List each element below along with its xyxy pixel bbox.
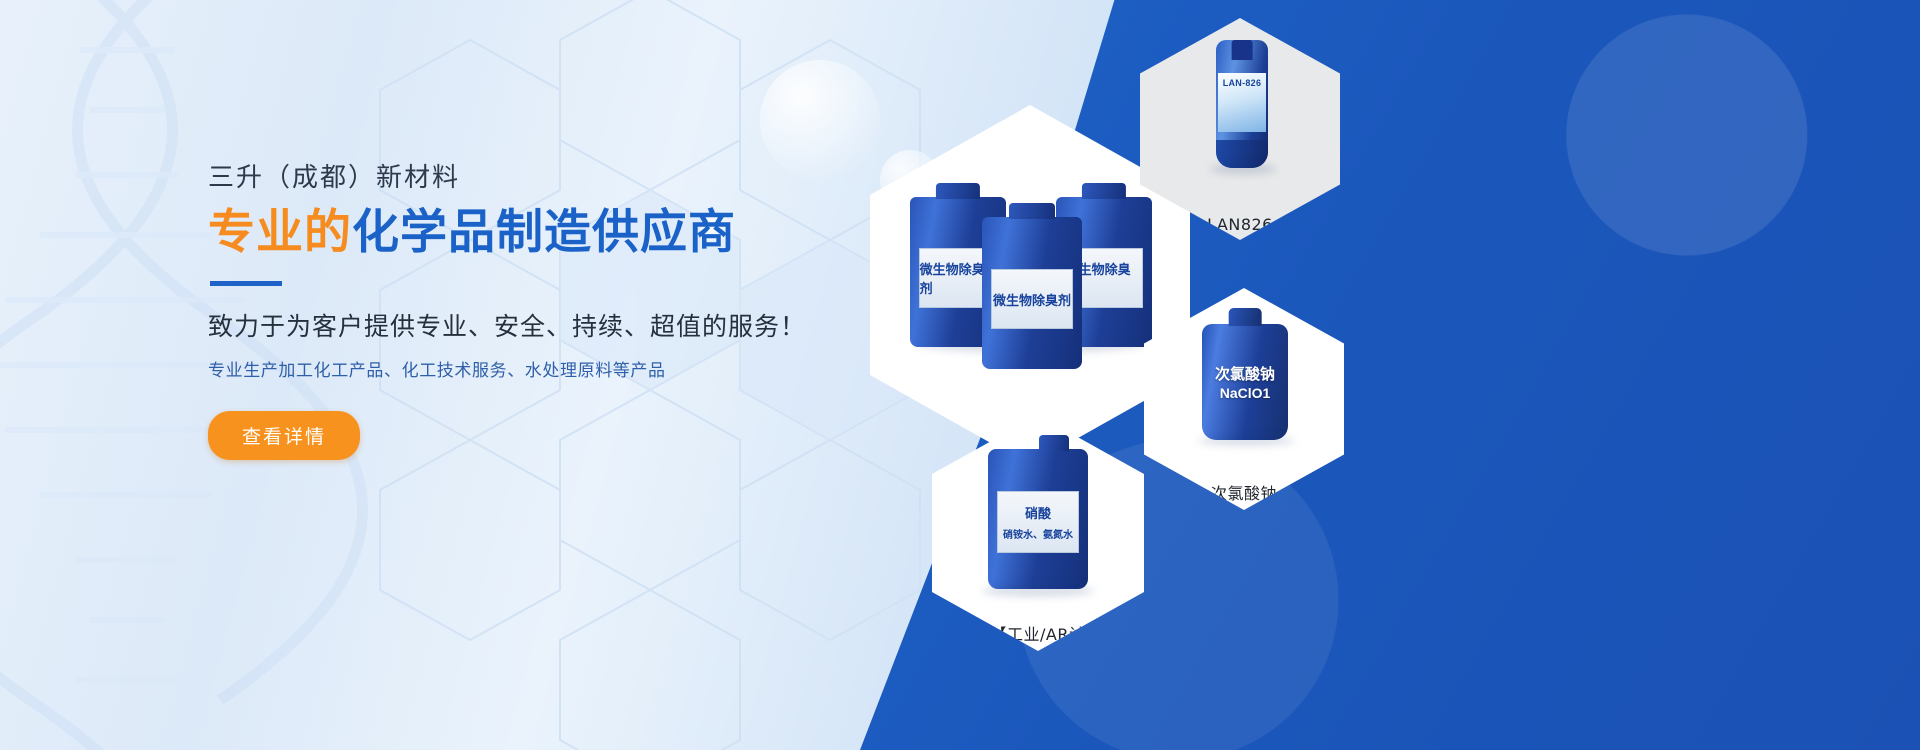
nitric-label-line1: 硝酸 — [1025, 503, 1051, 522]
jerry-can: 次氯酸钠 NaClO1 — [1202, 324, 1288, 440]
subline: 专业生产加工化工产品、化工技术服务、水处理原料等产品 — [208, 356, 908, 381]
tagline: 致力于为客户提供专业、安全、持续、超值的服务！ — [208, 308, 908, 346]
hero-copy: 三升（成都）新材料 专业的化学品制造供应商 致力于为客户提供专业、安全、持续、超… — [208, 160, 908, 460]
headline-main-text: 化学品制造供应商 — [352, 205, 736, 260]
bottle: LAN-826 — [1216, 40, 1268, 168]
view-details-button[interactable]: 查看详情 — [208, 411, 360, 460]
hero-banner: 三升（成都）新材料 专业的化学品制造供应商 致力于为客户提供专业、安全、持续、超… — [0, 0, 1920, 750]
nitric-label-line2: 硝铵水、氨氮水 — [1003, 526, 1073, 541]
divider — [210, 281, 282, 286]
deodorant-label-text: 微生物除臭剂 — [993, 290, 1071, 309]
page-title: 专业的化学品制造供应商 — [208, 204, 908, 263]
naclo-label-line1: 次氯酸钠 — [1202, 366, 1288, 385]
jerry-can: 硝酸 硝铵水、氨氮水 — [988, 449, 1088, 589]
naclo-label-line2: NaClO1 — [1202, 385, 1288, 403]
company-name: 三升（成都）新材料 — [208, 160, 908, 196]
lan826-label-text: LAN-826 — [1218, 73, 1266, 88]
headline-accent-text: 专业的 — [208, 205, 352, 260]
jerry-can: 微生物除臭剂 — [982, 217, 1082, 369]
